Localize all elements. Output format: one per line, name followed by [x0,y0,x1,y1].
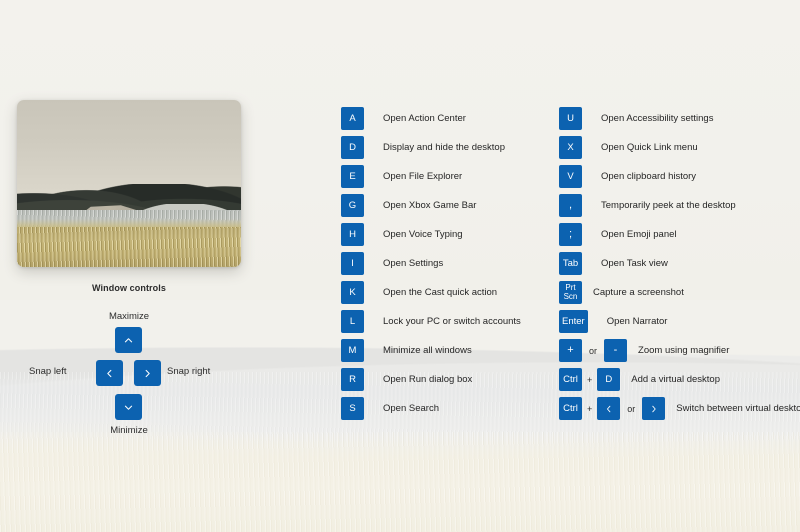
shortcut-row: HOpen Voice Typing [341,223,521,246]
shortcut-description: Switch between virtual desktops [676,403,800,414]
key-joiner: or [582,346,604,356]
window-controls-title: Window controls [17,283,241,293]
key-punct[interactable]: ; [559,223,582,246]
chevron-down-icon [123,402,134,413]
snap-right-key[interactable] [134,360,161,386]
shortcut-row: EOpen File Explorer [341,165,521,188]
key-r[interactable]: R [341,368,364,391]
chevron-right-icon [649,404,659,414]
key-label: Scn [564,293,578,301]
key-tab[interactable]: Tab [559,252,582,275]
shortcut-description: Open clipboard history [601,171,696,182]
shortcut-row: VOpen clipboard history [559,165,800,188]
shortcut-description: Open Xbox Game Bar [383,200,476,211]
key-i[interactable]: I [341,252,364,275]
shortcut-description: Open Settings [383,258,443,269]
shortcut-description: Open Task view [601,258,668,269]
chevron-left-icon [104,368,115,379]
shortcut-description: Open Action Center [383,113,466,124]
chevron-right-icon [142,368,153,379]
key-g[interactable]: G [341,194,364,217]
shortcut-description: Open Emoji panel [601,229,677,240]
shortcut-row: ROpen Run dialog box [341,368,521,391]
key-punct[interactable]: + [559,339,582,362]
shortcut-row: ,Temporarily peek at the desktop [559,194,800,217]
shortcut-description: Temporarily peek at the desktop [601,200,736,211]
key-ctrl[interactable]: Ctrl [559,397,582,420]
key-label: Ctrl [563,375,578,385]
key-a[interactable]: A [341,107,364,130]
window-controls-diagram: Maximize [17,313,241,433]
key-label: L [350,317,355,327]
key-label: Ctrl [563,404,578,414]
shortcut-description: Open Narrator [607,316,668,327]
key-x[interactable]: X [559,136,582,159]
snap-right-label: Snap right [167,366,210,377]
shortcut-row: KOpen the Cast quick action [341,281,521,304]
shortcut-row: IOpen Settings [341,252,521,275]
key-m[interactable]: M [341,339,364,362]
key-u[interactable]: U [559,107,582,130]
key-label: I [351,259,354,269]
shortcut-description: Open Search [383,403,439,414]
key-label: R [349,375,356,385]
shortcut-row: Ctrl+orSwitch between virtual desktops [559,397,800,420]
chevron-left-icon [604,404,614,414]
key-e[interactable]: E [341,165,364,188]
shortcut-description: Zoom using magnifier [638,345,729,356]
shortcut-description: Open File Explorer [383,171,462,182]
shortcut-row: LLock your PC or switch accounts [341,310,521,333]
key-enter[interactable]: Enter [559,310,588,333]
shortcut-row: TabOpen Task view [559,252,800,275]
shortcut-description: Minimize all windows [383,345,472,356]
shortcut-description: Open the Cast quick action [383,287,497,298]
shortcut-description: Display and hide the desktop [383,142,505,153]
maximize-label: Maximize [17,311,241,322]
key-label: Enter [562,317,585,327]
shortcut-row: DDisplay and hide the desktop [341,136,521,159]
key-label: G [349,201,356,211]
shortcut-description: Lock your PC or switch accounts [383,316,521,327]
key-k[interactable]: K [341,281,364,304]
shortcut-row: UOpen Accessibility settings [559,107,800,130]
background-grass-golden [0,432,800,532]
key-ctrl[interactable]: Ctrl [559,368,582,391]
key-label: U [567,114,574,124]
key-h[interactable]: H [341,223,364,246]
shortcut-row: EnterOpen Narrator [559,310,800,333]
shortcut-description: Add a virtual desktop [631,374,720,385]
key-punct[interactable]: - [604,339,627,362]
key-label: M [349,346,357,356]
key-label: + [567,345,573,356]
shortcut-row: MMinimize all windows [341,339,521,362]
preview-grass-highlight [17,219,241,227]
minimize-label: Minimize [17,425,241,436]
key-s[interactable]: S [341,397,364,420]
maximize-key[interactable] [115,327,142,353]
shortcut-description: Capture a screenshot [593,287,684,298]
key-label: H [349,230,356,240]
minimize-key[interactable] [115,394,142,420]
snap-left-key[interactable] [96,360,123,386]
snap-left-label: Snap left [29,366,67,377]
shortcut-row: XOpen Quick Link menu [559,136,800,159]
key-label: K [349,288,355,298]
key-label: D [605,375,612,385]
key-l[interactable]: L [341,310,364,333]
shortcut-row: +or-Zoom using magnifier [559,339,800,362]
shortcut-row: ;Open Emoji panel [559,223,800,246]
key-joiner: + [582,404,597,414]
key-label: A [349,114,355,124]
key-label: X [567,143,573,153]
shortcut-row: AOpen Action Center [341,107,521,130]
shortcut-description: Open Voice Typing [383,229,463,240]
key-label: V [567,172,573,182]
key-punct[interactable]: , [559,194,582,217]
shortcuts-poster: Window controls Maximize [0,0,800,532]
key-d[interactable]: D [597,368,620,391]
shortcut-list-left: AOpen Action CenterDDisplay and hide the… [341,107,521,426]
key-prtscn[interactable]: PrtScn [559,281,582,304]
key-label: S [349,404,355,414]
key-label: ; [569,229,572,240]
shortcut-row: GOpen Xbox Game Bar [341,194,521,217]
key-label: - [614,345,618,356]
shortcut-description: Open Accessibility settings [601,113,713,124]
desktop-wallpaper-preview [17,100,241,267]
key-label: Tab [563,259,578,269]
key-joiner: or [620,404,642,414]
preview-grass-golden [17,227,241,267]
shortcut-description: Open Run dialog box [383,374,472,385]
window-controls-section: Window controls Maximize [17,283,241,433]
chevron-up-icon [123,335,134,346]
key-joiner: + [582,375,597,385]
key-label: D [349,143,356,153]
shortcut-row: SOpen Search [341,397,521,420]
shortcut-row: Ctrl+DAdd a virtual desktop [559,368,800,391]
key-v[interactable]: V [559,165,582,188]
shortcut-row: PrtScnCapture a screenshot [559,281,800,304]
key-chevron-right[interactable] [642,397,665,420]
key-label: , [569,200,572,211]
shortcut-description: Open Quick Link menu [601,142,698,153]
shortcut-list-right: UOpen Accessibility settingsXOpen Quick … [559,107,800,426]
key-label: E [349,172,355,182]
key-d[interactable]: D [341,136,364,159]
key-chevron-left[interactable] [597,397,620,420]
